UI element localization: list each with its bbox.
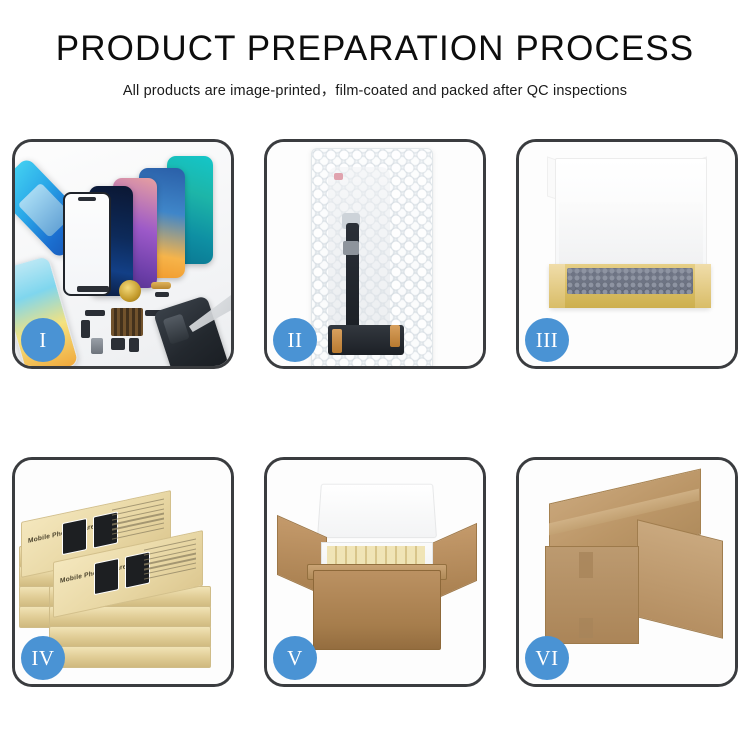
screen-inside-bag — [328, 167, 390, 343]
step-badge-3: III — [525, 318, 569, 362]
small-part-button — [129, 338, 139, 352]
carton-seam-lower — [579, 618, 593, 638]
small-part-flex-b — [81, 320, 90, 338]
ic-chip — [343, 241, 359, 255]
bubble-wrap-bag — [311, 148, 433, 366]
step-numeral-3: III — [536, 330, 558, 351]
flex-cable — [346, 223, 359, 335]
box-screen-img-c — [94, 558, 119, 595]
step-panel-6: VI — [516, 457, 738, 687]
camera-module-part — [119, 280, 141, 302]
step-panel-3: III — [516, 139, 738, 369]
screen-glass-panel — [63, 192, 111, 296]
step-numeral-6: VI — [535, 648, 558, 669]
tape-strip-left — [332, 329, 342, 353]
tray-lip-left — [549, 264, 565, 308]
box-screen-graphics-2 — [94, 551, 150, 593]
step-numeral-2: II — [288, 330, 303, 351]
stacked-box-slab-8 — [49, 646, 211, 668]
process-steps-grid: I II — [12, 139, 738, 687]
carton-side-face — [637, 519, 723, 638]
step-panel-4: Mobile Phone Spare Parts Mobile Phone Sp… — [12, 457, 234, 687]
box-screen-graphics-1 — [62, 511, 118, 553]
tape-strip-right — [390, 325, 400, 347]
tray-lip-right — [695, 264, 711, 308]
step-badge-5: V — [273, 636, 317, 680]
pink-label-sticker — [334, 173, 343, 180]
page-title: PRODUCT PREPARATION PROCESS — [0, 28, 750, 70]
step-numeral-4: IV — [31, 648, 54, 669]
packed-contents — [567, 268, 693, 294]
step-badge-6: VI — [525, 636, 569, 680]
carton-body — [313, 570, 441, 650]
step-numeral-1: I — [39, 330, 47, 351]
foam-lid-open — [317, 484, 437, 538]
small-part-gold-flex — [151, 282, 171, 289]
step-badge-2: II — [273, 318, 317, 362]
carton-seam-upper — [579, 552, 593, 578]
step-badge-1: I — [21, 318, 65, 362]
step-panel-2: II — [264, 139, 486, 369]
kraft-tray — [549, 264, 711, 308]
small-part-speaker — [111, 338, 125, 350]
header: PRODUCT PREPARATION PROCESS All products… — [0, 28, 750, 100]
step-numeral-5: V — [287, 648, 303, 669]
stacked-box-slab-7 — [49, 626, 211, 648]
small-part-flex-a — [85, 310, 105, 316]
chip-grid-part — [111, 308, 143, 336]
small-part-bar — [77, 286, 109, 292]
box-screen-img-a — [62, 518, 87, 555]
foam-sheet — [559, 202, 703, 268]
box-spec-lines-2 — [144, 539, 196, 588]
small-part-sim-tray — [91, 338, 103, 354]
small-part-connector — [155, 292, 169, 297]
step-panel-5: V — [264, 457, 486, 687]
product-preparation-infographic: PRODUCT PREPARATION PROCESS All products… — [0, 0, 750, 750]
page-subtitle: All products are image-printed，film-coat… — [0, 79, 750, 100]
step-panel-1: I — [12, 139, 234, 369]
step-badge-4: IV — [21, 636, 65, 680]
